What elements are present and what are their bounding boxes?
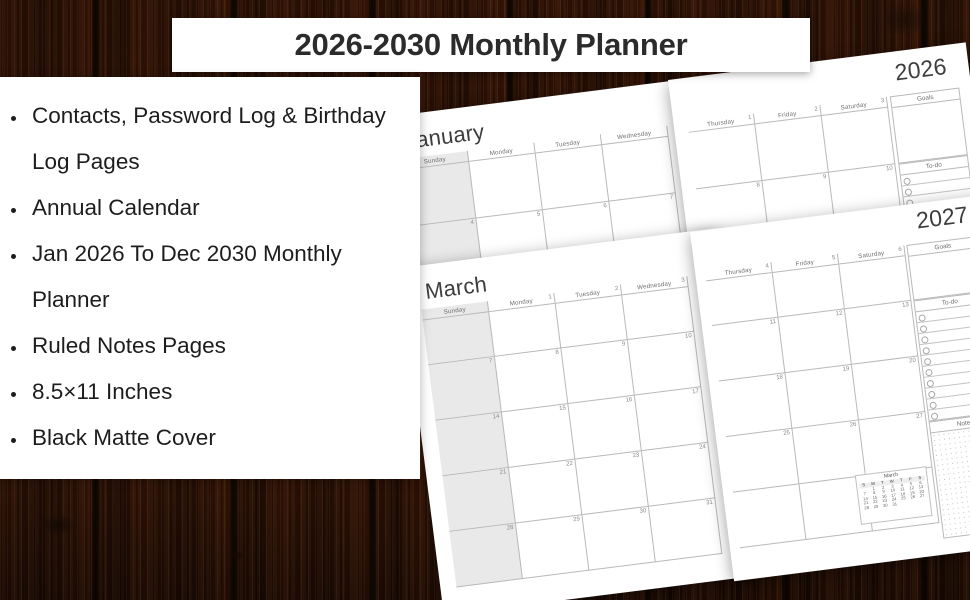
calendar-date-number: 14 bbox=[492, 414, 499, 421]
calendar-day-cell: Wednesday bbox=[601, 126, 676, 202]
goals-label: Goals bbox=[907, 237, 970, 256]
calendar-day-header: Wednesday bbox=[601, 126, 668, 145]
calendar-date-number: 26 bbox=[849, 422, 856, 429]
year-label: 2027 bbox=[915, 201, 970, 234]
calendar-day-cell: 7 bbox=[428, 357, 501, 421]
calendar-day-cell: Friday2 bbox=[754, 105, 829, 181]
calendar-date-number: 29 bbox=[573, 516, 580, 523]
calendar-date-number: 1 bbox=[548, 294, 552, 300]
calendar-day-cell: Tuesday bbox=[534, 134, 609, 210]
calendar-day-header: Monday bbox=[488, 293, 555, 312]
calendar-day-cell: 28 bbox=[449, 523, 522, 587]
calendar-day-cell: 19 bbox=[785, 365, 858, 429]
calendar-date-number: 9 bbox=[622, 341, 626, 347]
feature-list: Contacts, Password Log & Birthday Log Pa… bbox=[0, 77, 420, 461]
calendar-day-cell: 25 bbox=[726, 429, 799, 493]
calendar-day-cell: 13 bbox=[845, 301, 918, 365]
calendar-day-cell: Monday1 bbox=[488, 293, 561, 357]
calendar-day-cell: 8 bbox=[495, 348, 568, 412]
calendar-day-cell: 10 bbox=[628, 332, 701, 396]
march-page-right: 2027Thursday4Friday5Saturday611121318192… bbox=[690, 194, 970, 581]
calendar-day-cell: 18 bbox=[719, 373, 792, 437]
calendar-date-number: 2 bbox=[615, 286, 619, 292]
calendar-day-cell: Monday bbox=[468, 143, 543, 219]
calendar-date-number: 5 bbox=[537, 211, 541, 217]
mini-calendar-day bbox=[918, 498, 928, 504]
mini-calendar-day: 30 bbox=[880, 503, 890, 509]
goals-box: Goals bbox=[890, 88, 968, 164]
calendar-day-cell: 23 bbox=[575, 451, 648, 515]
calendar-day-cell: 29 bbox=[516, 515, 589, 579]
calendar-date-number: 9 bbox=[823, 174, 827, 180]
calendar-date-number: 1 bbox=[748, 115, 752, 121]
calendar-day-cell: 22 bbox=[509, 460, 582, 524]
calendar-date-number: 11 bbox=[769, 319, 776, 326]
goals-box: Goals bbox=[906, 236, 970, 301]
calendar-day-cell: Saturday6 bbox=[838, 245, 911, 309]
calendar-date-number: 15 bbox=[559, 405, 566, 412]
calendar-day-cell: Sunday bbox=[421, 301, 494, 365]
calendar-date-number: 6 bbox=[603, 203, 607, 209]
calendar-day-header: Saturday bbox=[838, 245, 905, 264]
mini-calendar-day: 29 bbox=[871, 504, 881, 510]
calendar-date-number: 25 bbox=[783, 430, 790, 437]
calendar-date-number: 19 bbox=[842, 366, 849, 373]
mini-calendar-day: 28 bbox=[862, 505, 872, 511]
calendar-date-number: 6 bbox=[898, 247, 902, 253]
calendar-day-cell: 11 bbox=[712, 318, 785, 382]
calendar-date-number: 10 bbox=[685, 333, 692, 340]
calendar-date-number: 16 bbox=[625, 397, 632, 404]
calendar-day-cell: 15 bbox=[502, 404, 575, 468]
calendar-date-number: 7 bbox=[489, 358, 493, 364]
calendar-day-header: Tuesday bbox=[554, 285, 621, 304]
calendar-day-cell: 21 bbox=[442, 468, 515, 532]
feature-item: Contacts, Password Log & Birthday Log Pa… bbox=[28, 93, 406, 185]
calendar-day-cell: 31 bbox=[649, 498, 722, 562]
calendar-day-header: Saturday bbox=[820, 97, 887, 116]
mini-calendar-day bbox=[909, 500, 919, 506]
calendar-day-header: Friday bbox=[771, 254, 838, 273]
feature-item: Annual Calendar bbox=[28, 185, 406, 231]
calendar-day-cell: 14 bbox=[435, 412, 508, 476]
month-label: March bbox=[424, 271, 489, 305]
year-label: 2026 bbox=[893, 53, 948, 86]
feature-item: Jan 2026 To Dec 2030 Monthly Planner bbox=[28, 231, 406, 323]
calendar-date-number: 5 bbox=[832, 255, 836, 261]
calendar-date-number: 7 bbox=[670, 195, 674, 201]
mini-calendar-day: 31 bbox=[890, 502, 900, 508]
calendar-date-number: 8 bbox=[555, 350, 559, 356]
calendar-day-cell: 20 bbox=[852, 356, 925, 420]
calendar-day-cell: 30 bbox=[582, 507, 655, 571]
calendar-date-number: 3 bbox=[881, 98, 885, 104]
feature-item: Ruled Notes Pages bbox=[28, 323, 406, 369]
calendar-date-number: 20 bbox=[909, 358, 916, 365]
calendar-day-header: Thursday bbox=[705, 262, 772, 281]
calendar-date-number: 2 bbox=[814, 106, 818, 112]
calendar-day-cell bbox=[733, 484, 806, 548]
calendar-day-cell: 17 bbox=[635, 387, 708, 451]
calendar-day-cell: 9 bbox=[561, 340, 634, 404]
calendar-day-header: Friday bbox=[754, 105, 821, 124]
calendar-day-cell: Tuesday2 bbox=[554, 284, 627, 348]
calendar-date-number: 24 bbox=[699, 444, 706, 451]
feature-item: 8.5×11 Inches bbox=[28, 369, 406, 415]
title-banner: 2026-2030 Monthly Planner bbox=[172, 18, 810, 72]
calendar-date-number: 12 bbox=[835, 311, 842, 318]
calendar-day-cell: 24 bbox=[642, 443, 715, 507]
feature-list-panel: Contacts, Password Log & Birthday Log Pa… bbox=[0, 77, 420, 479]
calendar-day-cell: Saturday3 bbox=[820, 97, 895, 173]
calendar-day-cell: Wednesday3 bbox=[621, 276, 694, 340]
calendar-date-number: 4 bbox=[765, 263, 769, 269]
calendar-date-number: 21 bbox=[499, 469, 506, 476]
page-title: 2026-2030 Monthly Planner bbox=[295, 27, 688, 63]
calendar-date-number: 10 bbox=[886, 166, 893, 173]
calendar-day-cell: Friday5 bbox=[771, 254, 844, 318]
calendar-day-header: Thursday bbox=[687, 114, 754, 133]
calendar-date-number: 28 bbox=[506, 525, 513, 532]
feature-item: Black Matte Cover bbox=[28, 415, 406, 461]
calendar-day-header: Tuesday bbox=[534, 134, 601, 153]
calendar-date-number: 30 bbox=[639, 508, 646, 515]
calendar-date-number: 23 bbox=[632, 452, 639, 459]
calendar-day-cell: 12 bbox=[778, 309, 851, 373]
mini-calendar-day bbox=[899, 501, 909, 507]
calendar-date-number: 31 bbox=[706, 500, 713, 507]
calendar-day-header: Wednesday bbox=[621, 276, 688, 295]
mini-calendar: MarchSMTWTFS1234567891011121314151617181… bbox=[855, 466, 933, 525]
calendar-date-number: 13 bbox=[902, 302, 909, 309]
calendar-date-number: 3 bbox=[681, 277, 685, 283]
calendar-date-number: 4 bbox=[470, 220, 474, 226]
calendar-date-number: 17 bbox=[692, 389, 699, 396]
calendar-grid-left: SundayMonday1Tuesday2Wednesday3789101415… bbox=[421, 276, 722, 587]
calendar-day-cell: 16 bbox=[568, 396, 641, 460]
goals-label: Goals bbox=[891, 89, 960, 108]
calendar-date-number: 22 bbox=[566, 461, 573, 468]
calendar-date-number: 27 bbox=[916, 413, 923, 420]
calendar-day-cell: Thursday1 bbox=[687, 114, 762, 190]
calendar-date-number: 18 bbox=[776, 375, 783, 382]
calendar-day-cell: Thursday4 bbox=[705, 262, 778, 326]
product-listing-image: JanuarySundayMondayTuesdayWednesday45672… bbox=[0, 0, 970, 600]
calendar-date-number: 8 bbox=[756, 182, 760, 188]
